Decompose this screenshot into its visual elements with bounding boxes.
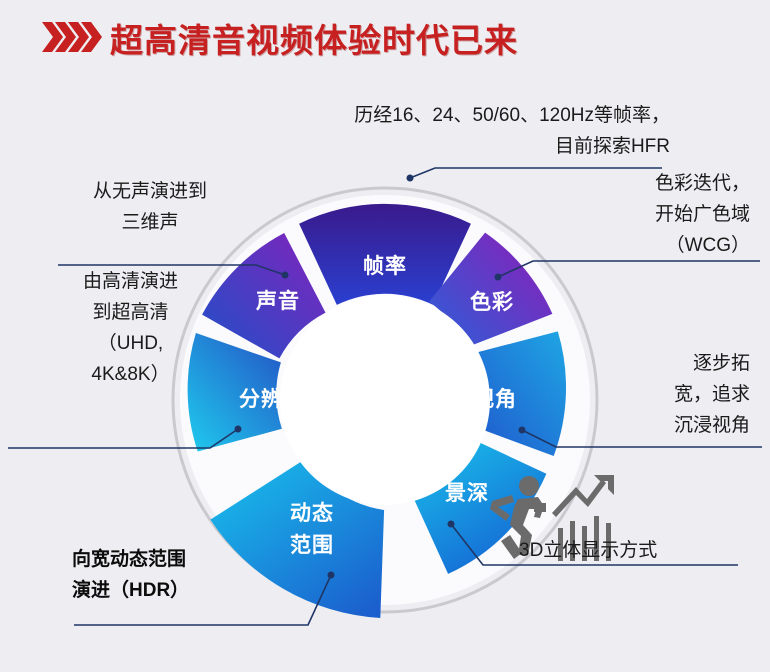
page-header: 超高清音视频体验时代已来 — [0, 0, 770, 72]
segment-label-frame-rate: 帧率 — [363, 254, 407, 278]
segment-label-dynamic-range-line2: 范围 — [290, 534, 334, 557]
segment-label-dynamic-range-line1: 动态 — [290, 501, 334, 525]
callout-sound: 从无声演进到 三维声 — [55, 176, 245, 238]
callout-dynamic-range: 向宽动态范围 演进（HDR） — [72, 544, 272, 606]
callout-frame-rate: 历经16、24、50/60、120Hz等帧率， 目前探索HFR — [250, 100, 670, 162]
segment-label-sound: 声音 — [255, 289, 300, 313]
callout-viewing-angle: 逐步拓 宽，追求 沉浸视角 — [600, 348, 750, 441]
callout-color: 色彩迭代， 开始广色域 （WCG） — [560, 168, 750, 261]
callout-resolution: 由高清演进 到超高清 （UHD, 4K&8K） — [48, 266, 213, 390]
segment-label-color: 色彩 — [470, 290, 514, 314]
page-title: 超高清音视频体验时代已来 — [110, 14, 518, 62]
segment-label-depth-of-field: 景深 — [445, 482, 489, 505]
callout-depth-of-field: 3D立体显示方式 — [519, 535, 739, 566]
wheel-hub — [280, 295, 490, 505]
double-chevron-icon — [42, 20, 102, 54]
